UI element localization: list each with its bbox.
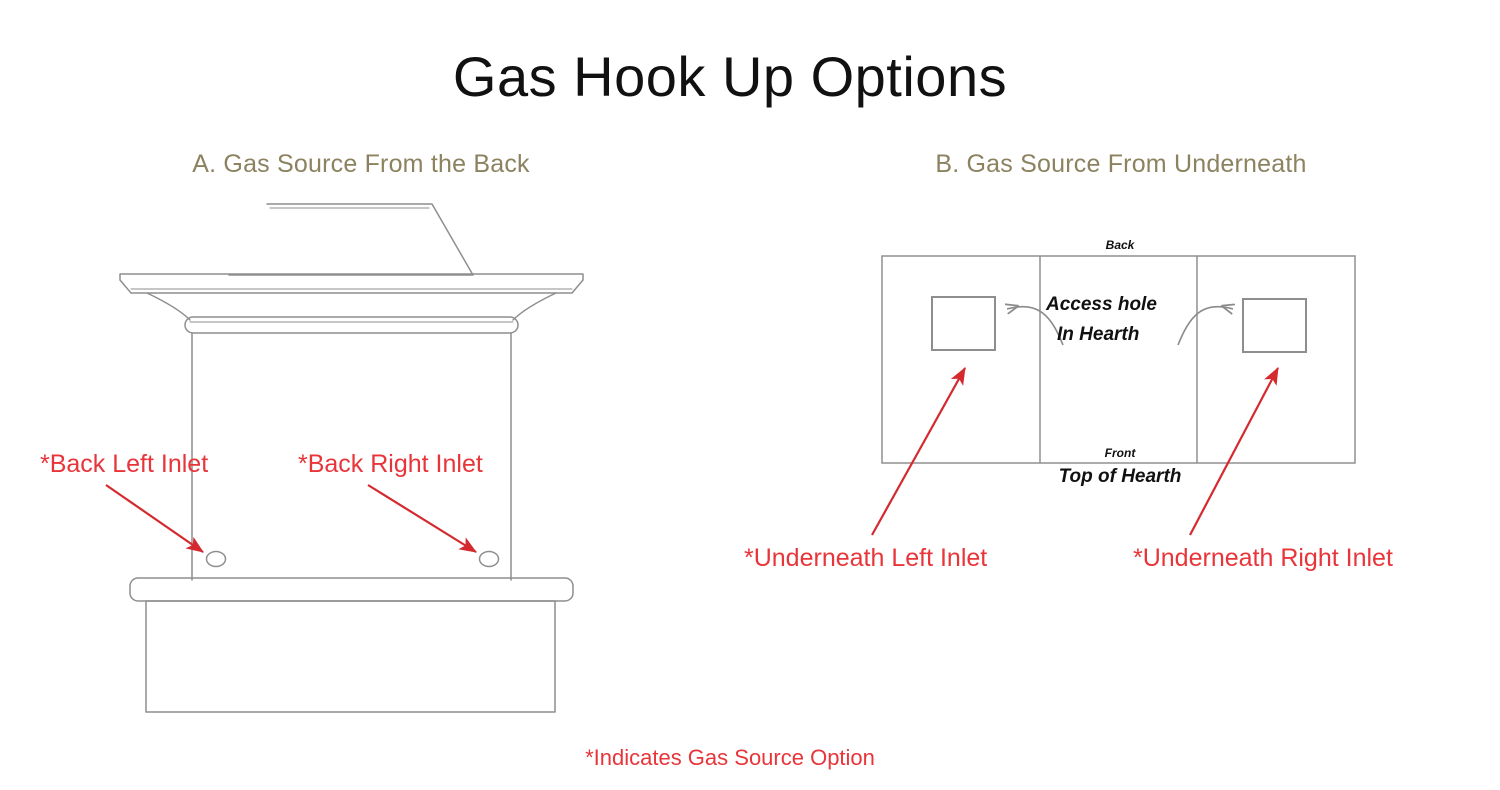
label-underneath-right-inlet: *Underneath Right Inlet — [1133, 544, 1393, 573]
hearth-front-label: Front — [1040, 446, 1200, 460]
linework-svg — [0, 0, 1500, 790]
hearth-plan-drawing — [882, 256, 1355, 463]
access-hole-label-line1: Access hole — [1046, 294, 1157, 316]
back-right-inlet-hole — [480, 552, 499, 567]
base-plinth-cap — [130, 578, 573, 601]
arrow-back-right-inlet — [368, 485, 476, 552]
section-heading-a: A. Gas Source From the Back — [0, 150, 722, 179]
underneath-left-access-hole — [932, 297, 995, 350]
section-heading-b: B. Gas Source From Underneath — [760, 150, 1482, 179]
back-left-inlet-hole — [207, 552, 226, 567]
hood-shape — [229, 204, 473, 275]
arrow-back-left-inlet — [106, 485, 203, 552]
arrow-underneath-left-inlet — [872, 368, 965, 535]
hearth-base-box — [146, 601, 555, 712]
underneath-right-access-hole — [1243, 299, 1306, 352]
footnote-gas-source-option: *Indicates Gas Source Option — [0, 745, 1460, 771]
cove-molding-right — [513, 293, 556, 320]
arrow-underneath-right-inlet — [1190, 368, 1278, 535]
callout-arrows-a — [106, 485, 476, 552]
label-back-right-inlet: *Back Right Inlet — [298, 450, 483, 479]
top-of-hearth-label: Top of Hearth — [1010, 466, 1230, 488]
access-hole-label-line2: In Hearth — [1057, 324, 1139, 346]
label-underneath-left-inlet: *Underneath Left Inlet — [744, 544, 987, 573]
mantel-shelf — [120, 274, 583, 293]
access-hole-arc-right — [1178, 307, 1233, 345]
hearth-back-label: Back — [1040, 238, 1200, 252]
label-back-left-inlet: *Back Left Inlet — [40, 450, 208, 479]
hearth-outline — [882, 256, 1355, 463]
astragal-band — [185, 317, 518, 333]
cove-molding-left — [147, 293, 190, 320]
diagram-canvas: Gas Hook Up Options A. Gas Source From t… — [0, 0, 1500, 790]
page-title: Gas Hook Up Options — [0, 44, 1460, 109]
